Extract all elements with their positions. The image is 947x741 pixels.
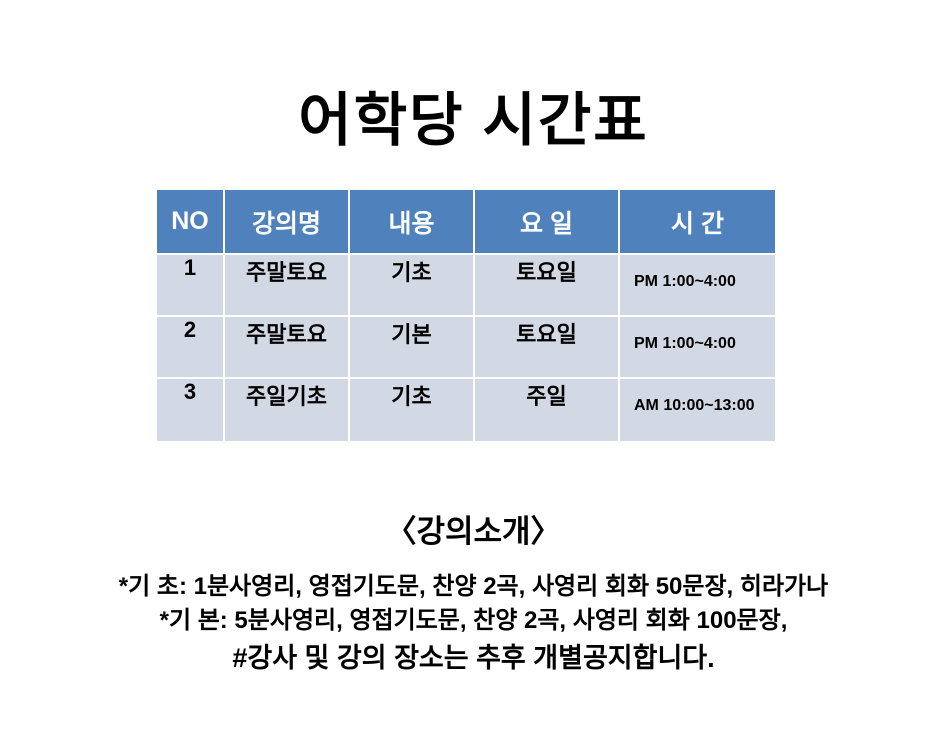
cell-day: 토요일 [475, 255, 620, 317]
cell-course: 주일기초 [225, 379, 350, 441]
note-line-standard: *기 본: 5분사영리, 영접기도문, 찬양 2곡, 사영리 회화 100문장, [0, 604, 947, 638]
cell-content: 기본 [350, 317, 475, 379]
schedule-table: NO 강의명 내용 요 일 시 간 1 주말토요 기초 토요일 PM 1:00~… [157, 190, 775, 441]
cell-no: 2 [157, 317, 225, 379]
cell-no: 3 [157, 379, 225, 441]
section-subtitle: 〈강의소개〉 [0, 506, 947, 551]
table-row: 1 주말토요 기초 토요일 PM 1:00~4:00 [157, 255, 775, 317]
cell-course: 주말토요 [225, 255, 350, 317]
cell-no: 1 [157, 255, 225, 317]
cell-course: 주말토요 [225, 317, 350, 379]
page-title: 어학당 시간표 [0, 91, 947, 152]
note-line-basic: *기 초: 1분사영리, 영접기도문, 찬양 2곡, 사영리 회화 50문장, … [0, 570, 947, 604]
table-header-row: NO 강의명 내용 요 일 시 간 [157, 190, 775, 255]
cell-day: 토요일 [475, 317, 620, 379]
column-header-time: 시 간 [620, 190, 775, 255]
column-header-day: 요 일 [475, 190, 620, 255]
note-line-announcement: #강사 및 강의 장소는 추후 개별공지합니다. [0, 638, 947, 678]
column-header-content: 내용 [350, 190, 475, 255]
cell-time: AM 10:00~13:00 [620, 379, 775, 441]
cell-time: PM 1:00~4:00 [620, 255, 775, 317]
column-header-course: 강의명 [225, 190, 350, 255]
timetable-page: 어학당 시간표 NO 강의명 내용 요 일 시 간 1 주말토요 기초 토요일 [0, 0, 947, 741]
cell-day: 주일 [475, 379, 620, 441]
column-header-no: NO [157, 190, 225, 255]
cell-content: 기초 [350, 379, 475, 441]
cell-time: PM 1:00~4:00 [620, 317, 775, 379]
cell-content: 기초 [350, 255, 475, 317]
notes-block: *기 초: 1분사영리, 영접기도문, 찬양 2곡, 사영리 회화 50문장, … [0, 570, 947, 678]
table-row: 3 주일기초 기초 주일 AM 10:00~13:00 [157, 379, 775, 441]
table-row: 2 주말토요 기본 토요일 PM 1:00~4:00 [157, 317, 775, 379]
table-header: NO 강의명 내용 요 일 시 간 [157, 190, 775, 255]
table-body: 1 주말토요 기초 토요일 PM 1:00~4:00 2 주말토요 기본 토요일… [157, 255, 775, 441]
